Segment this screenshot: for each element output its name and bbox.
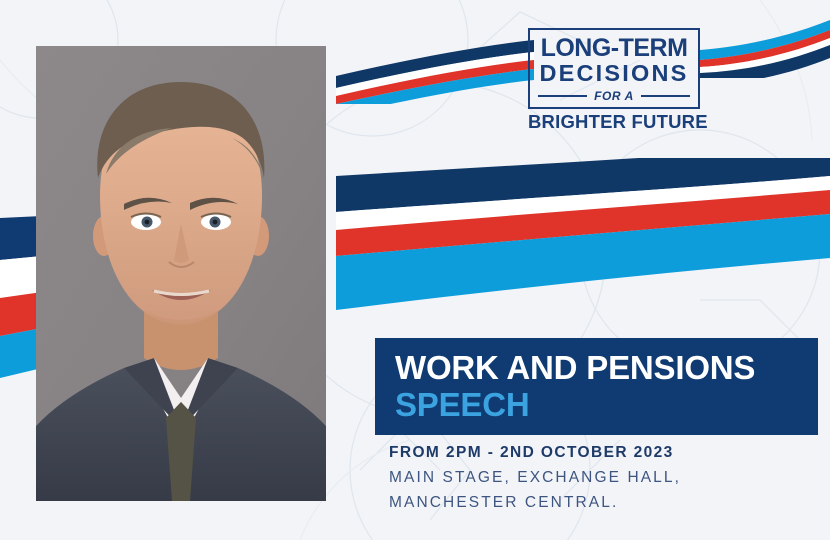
headline-primary: WORK AND PENSIONS [395, 349, 818, 386]
campaign-logo: LONG-TERM DECISIONS FOR A BRIGHTER FUTUR… [528, 28, 700, 132]
event-details: FROM 2PM - 2ND OCTOBER 2023 MAIN STAGE, … [389, 441, 819, 515]
speaker-portrait-photo [36, 46, 326, 501]
logo-connector-row: FOR A [538, 89, 690, 103]
event-venue-line-1: MAIN STAGE, EXCHANGE HALL, [389, 465, 819, 490]
ribbon-main-band [336, 158, 830, 314]
ribbon-top-right [700, 20, 830, 78]
headline-secondary: SPEECH [395, 386, 818, 423]
logo-connector-text: FOR A [594, 89, 634, 103]
logo-line-decisions: DECISIONS [538, 61, 690, 86]
headline-panel: WORK AND PENSIONS SPEECH [375, 338, 818, 435]
logo-box: LONG-TERM DECISIONS FOR A [528, 28, 700, 109]
logo-rule-right [641, 95, 690, 97]
event-date-time: FROM 2PM - 2ND OCTOBER 2023 [389, 441, 819, 465]
ribbon-top-left [336, 38, 536, 104]
logo-line-long-term: LONG-TERM [538, 36, 690, 61]
logo-rule-left [538, 95, 587, 97]
event-venue-line-2: MANCHESTER CENTRAL. [389, 490, 819, 515]
logo-line-brighter-future: BRIGHTER FUTURE [528, 112, 700, 132]
event-announcement-poster: LONG-TERM DECISIONS FOR A BRIGHTER FUTUR… [0, 0, 830, 540]
